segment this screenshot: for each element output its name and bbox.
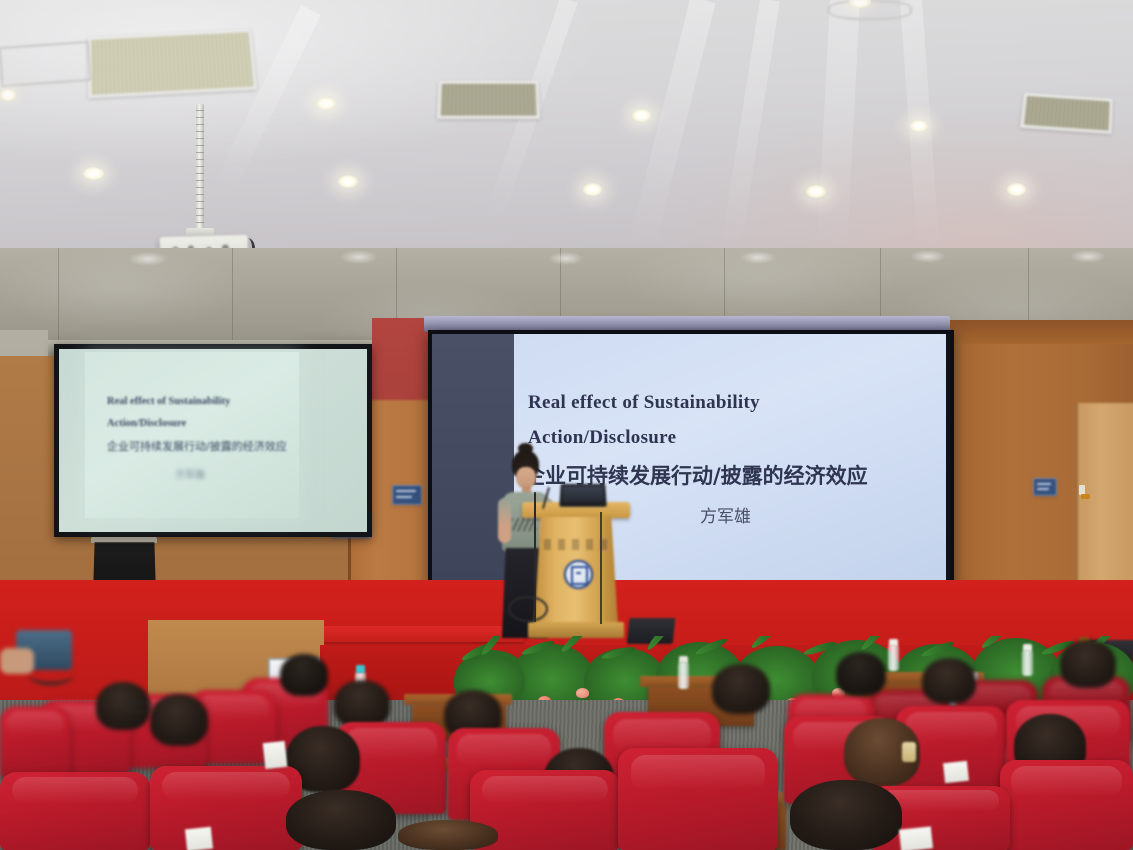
fern-frond	[645, 636, 672, 652]
audience-head	[334, 680, 390, 728]
hvac-vent	[437, 81, 540, 119]
projector-pole-ticks	[196, 110, 204, 234]
handout-paper	[263, 741, 288, 769]
ceiling-downlight	[806, 185, 826, 198]
auditorium-seat[interactable]	[150, 766, 302, 850]
side-projection-screen: Real effect of Sustainability Action/Dis…	[54, 344, 372, 537]
auditorium-seat[interactable]	[0, 772, 150, 850]
ceiling-downlight	[632, 109, 651, 122]
wall-light-reflection	[340, 250, 378, 264]
wall-light-reflection	[1070, 250, 1106, 263]
bottle-cap-icon	[356, 665, 365, 673]
ceiling-downlight	[316, 97, 336, 110]
ceiling-downlight	[583, 183, 602, 196]
door-handle-icon[interactable]	[1081, 494, 1090, 499]
auditorium-seat[interactable]	[618, 748, 778, 850]
bottle-cap-icon	[1023, 644, 1032, 651]
auditorium-seat[interactable]	[1000, 760, 1133, 850]
audience-head	[280, 654, 328, 696]
hvac-vent	[1020, 93, 1112, 134]
presenter-left-arm	[498, 498, 511, 543]
bottle-cap-icon	[889, 639, 898, 646]
water-bottle	[888, 645, 899, 671]
audience-head	[712, 664, 770, 714]
side-screen-title-line1: Real effect of Sustainability	[107, 396, 230, 407]
water-bottle	[678, 662, 689, 689]
wall-light-reflection	[548, 252, 584, 265]
audience-head	[150, 694, 208, 746]
ceiling-downlight	[0, 89, 16, 101]
ceiling-downlight	[1007, 183, 1026, 196]
ceiling-downlight	[910, 120, 928, 132]
audience-head-foreground	[286, 790, 396, 850]
hvac-vent	[88, 29, 257, 98]
ceiling-downlight	[83, 167, 104, 180]
water-bottle	[1022, 650, 1033, 676]
eyeglasses-icon	[124, 702, 152, 712]
side-screen-title-chinese: 企业可持续发展行动/披露的经济效应	[107, 438, 287, 454]
ceiling-panel-outline	[0, 41, 91, 87]
side-screen-projection-area: Real effect of Sustainability Action/Dis…	[85, 352, 299, 518]
coiled-cable	[508, 596, 548, 622]
main-screen-title-line2: Action/Disclosure	[528, 427, 676, 449]
wall-sign-plate	[392, 485, 422, 505]
wall-light-reflection	[910, 250, 946, 263]
main-screen-title-line1: Real effect of Sustainability	[528, 392, 760, 414]
audience-head	[1060, 640, 1116, 688]
ceiling-downlight	[338, 175, 358, 188]
bottle-cap-icon	[679, 656, 688, 663]
hair-clip-icon	[902, 742, 916, 762]
handout-paper	[185, 827, 213, 850]
side-screen-title-line2: Action/Disclosure	[107, 418, 186, 429]
main-screen-author: 方军雄	[700, 502, 751, 527]
audience-head	[922, 658, 976, 704]
cable-bundle	[28, 664, 74, 685]
right-wall-header	[946, 320, 1133, 344]
auditorium-seat[interactable]	[0, 706, 70, 778]
wall-sign-plate	[1033, 478, 1057, 496]
audience-head	[836, 652, 886, 696]
side-screen-author: 方军雄	[175, 466, 205, 481]
audience-head-foreground	[790, 780, 902, 850]
anthurium-bloom	[576, 688, 589, 698]
wall-light-reflection	[740, 251, 776, 264]
wall-light-reflection	[128, 252, 168, 266]
lecture-hall-scene: Real effect of Sustainability Action/Dis…	[0, 0, 1133, 850]
university-crest-icon	[564, 560, 593, 589]
audience-head-foreground	[398, 820, 498, 850]
handout-paper	[899, 826, 933, 850]
power-cable	[600, 512, 602, 624]
lectern-laptop[interactable]	[559, 484, 606, 507]
handout-paper	[943, 761, 969, 783]
lectern-engraved-text	[544, 539, 620, 550]
